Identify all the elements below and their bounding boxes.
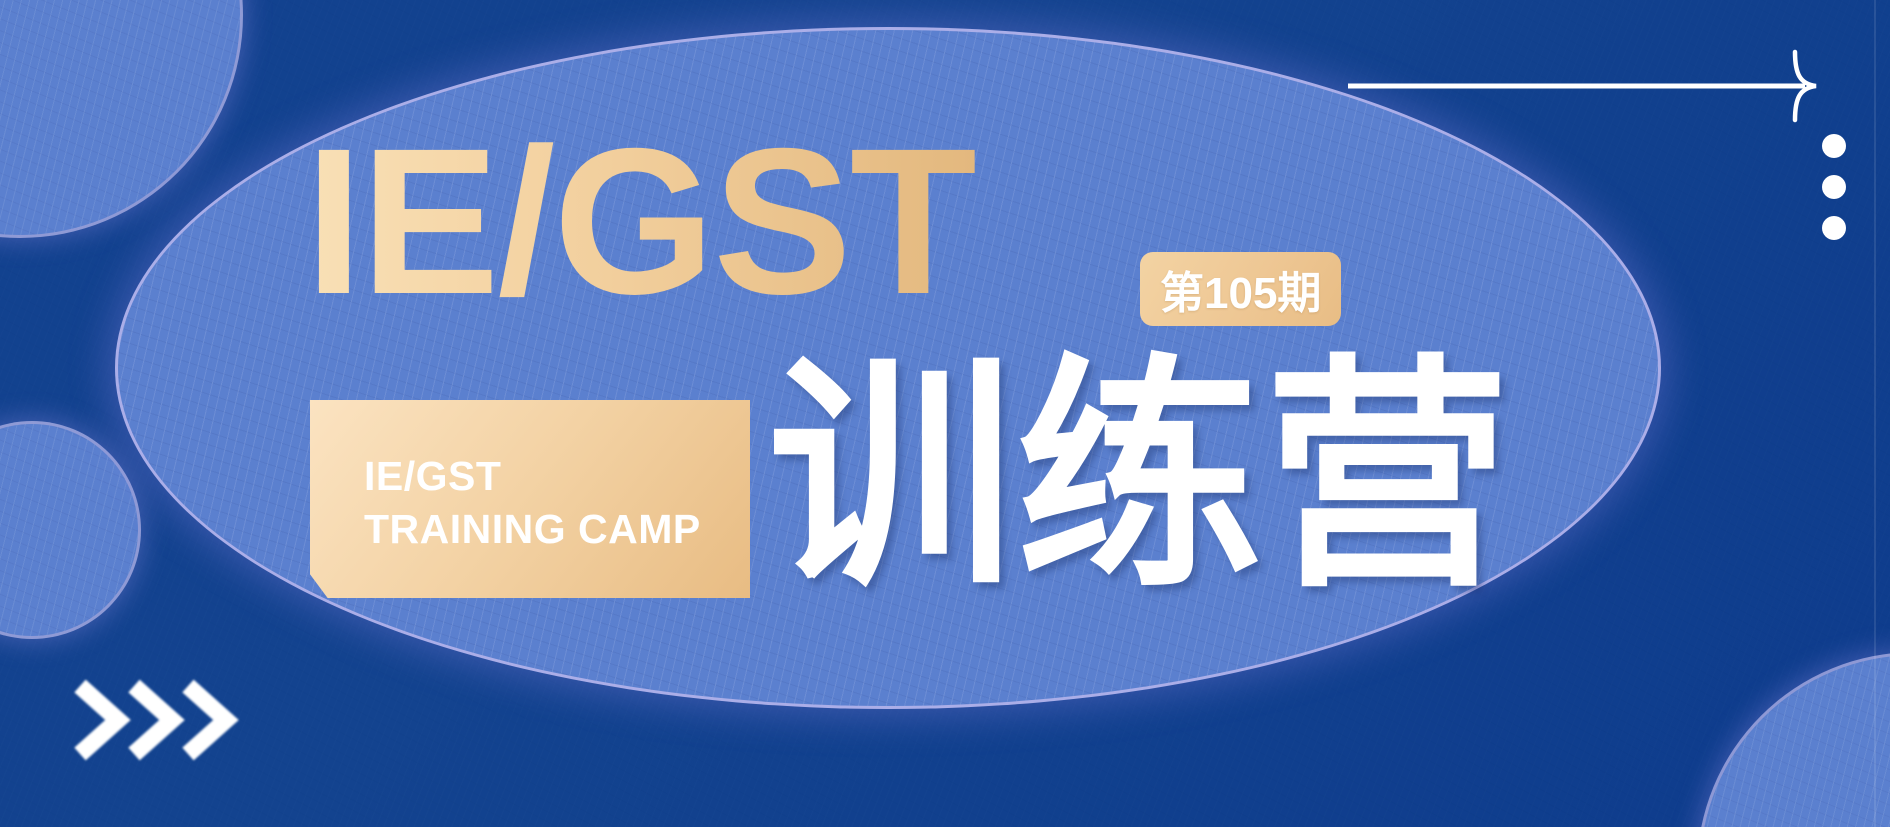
dot-3-icon	[1822, 216, 1846, 240]
caption-line-2: TRAINING CAMP	[364, 503, 701, 556]
caption-line-1: IE/GST	[364, 450, 701, 503]
triple-chevron-right-icon	[72, 676, 272, 764]
chinese-title: 训练营	[768, 355, 1512, 601]
dot-stack-decoration	[1822, 134, 1846, 240]
issue-badge: 第105期	[1140, 252, 1341, 326]
promo-banner: IE/GST 第105期 IE/GST TRAINING CAMP 训练营	[0, 0, 1890, 827]
arrow-rule-icon	[1348, 46, 1848, 126]
right-edge-hairline	[1874, 0, 1876, 827]
dot-2-icon	[1822, 175, 1846, 199]
circle-decoration-left-small	[0, 424, 138, 636]
dot-1-icon	[1822, 134, 1846, 158]
circle-texture	[0, 424, 138, 636]
circle-decoration-top-left-large	[0, 0, 240, 235]
circle-texture	[0, 0, 240, 235]
caption-text-block: IE/GST TRAINING CAMP	[364, 450, 701, 557]
headline-title: IE/GST	[305, 118, 975, 326]
circle-decoration-bottom-right	[1700, 655, 1890, 827]
caption-plate: IE/GST TRAINING CAMP	[310, 400, 750, 598]
circle-texture	[1700, 655, 1890, 827]
